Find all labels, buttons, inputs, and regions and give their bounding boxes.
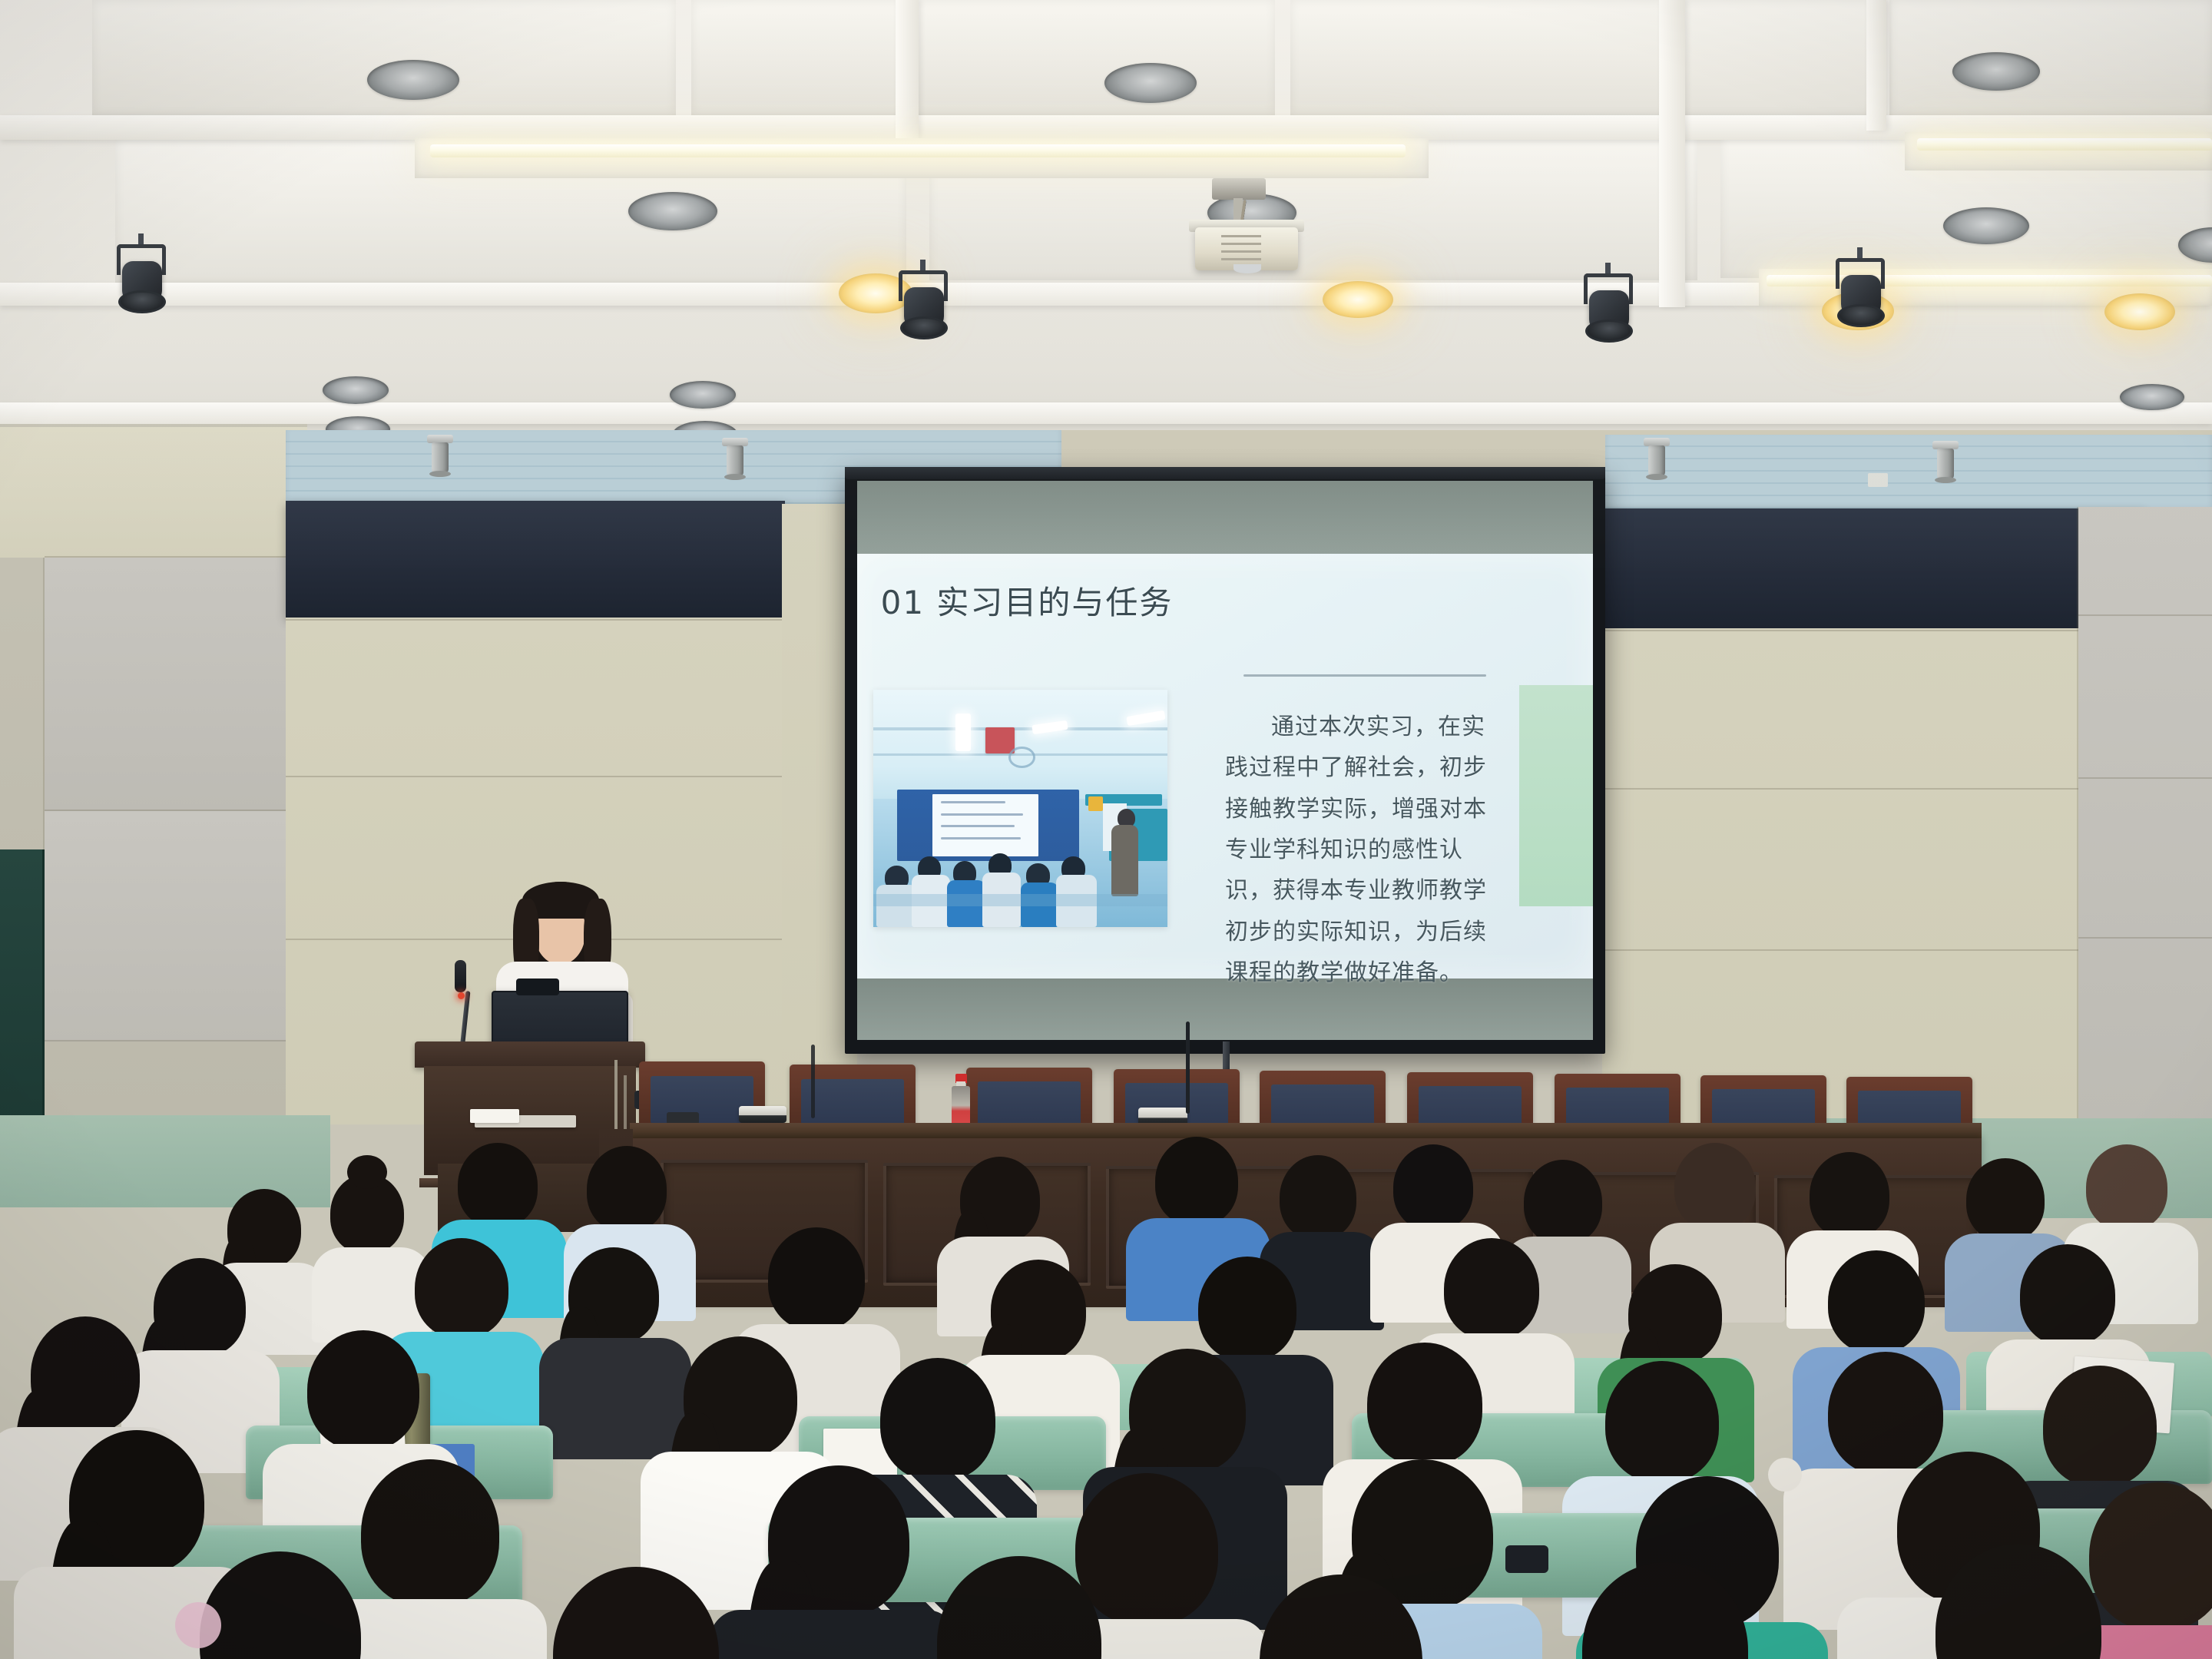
wireless-receiver[interactable] <box>739 1106 786 1123</box>
ceiling-coffer <box>1889 0 2212 115</box>
stage-chair[interactable] <box>790 1065 916 1131</box>
fluorescent-tube-light <box>1917 138 2212 151</box>
recessed-downlight <box>1104 63 1197 103</box>
wall-panel <box>0 427 307 558</box>
ceiling-coffer <box>92 0 676 115</box>
wall-seam <box>45 556 307 558</box>
slide-title: 01 实习目的与任务 <box>881 577 1174 624</box>
stage-spotlight <box>897 270 952 344</box>
ceiling <box>0 0 2212 492</box>
door[interactable] <box>0 849 45 1115</box>
wall-seam <box>2078 777 2212 779</box>
hair-clip <box>1768 1458 1802 1492</box>
water-bottle[interactable] <box>949 1074 972 1129</box>
ceiling-beam <box>1866 0 1886 131</box>
recessed-downlight-lit <box>2104 293 2175 330</box>
wall-switch-plate[interactable] <box>1868 473 1888 487</box>
table-top-edge <box>630 1123 1982 1140</box>
soffit-panel <box>1605 435 2212 512</box>
slide-photo <box>873 690 1167 928</box>
wall-panel <box>45 811 307 1041</box>
fluorescent-tube-light <box>430 144 1406 157</box>
wall-seam <box>45 1040 307 1041</box>
wall-seam <box>1602 630 2078 631</box>
wall-seam <box>286 776 785 777</box>
wall-seam <box>1602 949 2078 951</box>
acoustic-panel <box>1602 508 2144 630</box>
fluorescent-tube-light <box>1767 275 2212 286</box>
hair-accessory <box>175 1602 221 1648</box>
wall-panel <box>45 558 307 811</box>
soffit-can-light <box>1932 441 1959 484</box>
stage-spotlight <box>115 244 171 318</box>
ceiling-beam <box>1659 0 1685 307</box>
projection-screen: 01 实习目的与任务 <box>845 470 1605 1054</box>
slide-body-text: 通过本次实习，在实践过程中了解社会，初步接触教学实际，增强对本专业学科知识的感性… <box>1225 707 1497 994</box>
presentation-slide: 01 实习目的与任务 <box>857 554 1593 979</box>
stage-spotlight <box>1582 273 1637 347</box>
microphone-indicator-led <box>458 992 465 999</box>
hair-clip <box>1505 1545 1548 1573</box>
wall-panel <box>1602 628 2078 1124</box>
wall-seam <box>286 619 785 621</box>
soffit-can-light <box>722 438 748 481</box>
ceiling-projector <box>1175 178 1321 278</box>
laptop-hinge <box>516 979 559 995</box>
soffit-can-light <box>427 435 453 478</box>
recessed-downlight <box>2120 384 2184 410</box>
wall-seam <box>2077 507 2078 1121</box>
stage-spotlight <box>1834 258 1889 332</box>
recessed-downlight <box>670 381 736 409</box>
microphone-head <box>455 960 466 992</box>
recessed-downlight <box>1952 52 2040 91</box>
wall-seam <box>1602 788 2078 790</box>
recessed-downlight <box>1943 207 2029 244</box>
wall-seam <box>2078 614 2212 616</box>
table-microphone-stand <box>1186 1022 1190 1114</box>
screen-letterbox-top <box>857 481 1593 554</box>
ceiling-coffer <box>1290 0 1874 115</box>
acoustic-panel <box>286 501 785 618</box>
ceiling-coffer <box>691 0 1275 115</box>
ceiling-beam <box>896 0 919 138</box>
screen-surface: 01 实习目的与任务 <box>857 481 1593 1040</box>
screen-roller[interactable] <box>845 467 1605 479</box>
podium-paper <box>470 1109 519 1123</box>
recessed-downlight-lit <box>1323 281 1393 318</box>
recessed-downlight <box>367 60 459 100</box>
slide-divider-rule <box>1243 674 1486 677</box>
wall-seam <box>45 810 307 811</box>
lecture-hall-scene: 01 实习目的与任务 <box>0 0 2212 1659</box>
recessed-downlight <box>323 376 389 404</box>
recessed-downlight <box>628 192 717 230</box>
wall-panel <box>2078 507 2212 1121</box>
table-microphone-stand <box>811 1045 815 1118</box>
wall-seam <box>2078 937 2212 939</box>
soffit-can-light <box>1644 438 1670 481</box>
slide-accent-block <box>1519 685 1593 906</box>
